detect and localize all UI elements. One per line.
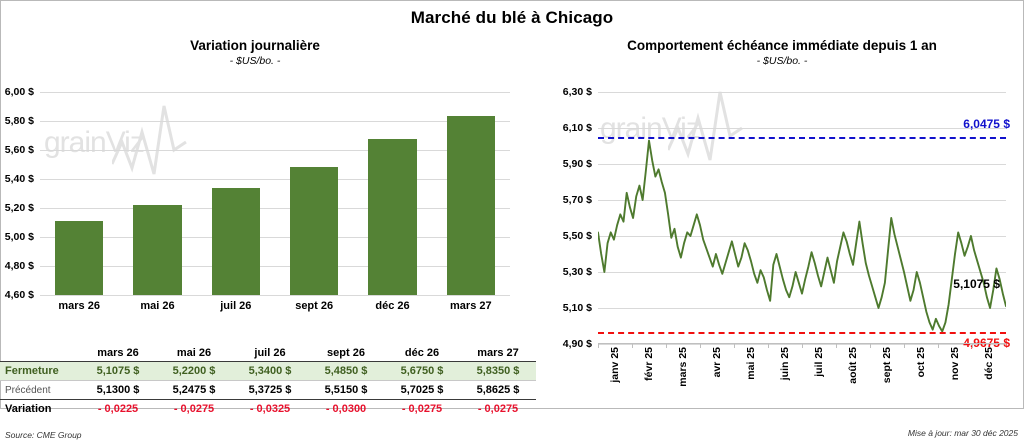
x-axis-tick	[938, 344, 939, 348]
left-chart-panel: Variation journalière - $US/bo. - grainV…	[0, 38, 540, 409]
table-cell: 5,5150 $	[308, 381, 384, 400]
gridline	[40, 266, 510, 267]
x-axis-month-label: août 25	[847, 347, 859, 384]
bar-mai-26[interactable]	[133, 205, 182, 295]
x-axis-month-label: janv 25	[609, 347, 621, 383]
x-axis-month: févr 25	[643, 347, 655, 381]
x-axis-tick	[768, 344, 769, 348]
y-axis-tick-label: 5,60 $	[5, 144, 34, 156]
y-axis-tick-label: 6,00 $	[5, 86, 34, 98]
x-axis-month: nov 25	[949, 347, 961, 380]
x-axis-month: mai 25	[745, 347, 757, 380]
table-column-header: mai 26	[156, 344, 232, 362]
watermark-left: grainViz	[44, 126, 144, 160]
gridline	[40, 179, 510, 180]
table-row-label: Précédent	[0, 381, 80, 400]
x-axis-month: sept 25	[881, 347, 893, 383]
quotes-table: mars 26mai 26juil 26sept 26déc 26mars 27…	[0, 344, 536, 418]
x-axis-tick	[666, 344, 667, 348]
x-axis-month: août 25	[847, 347, 859, 384]
table-cell: 5,8350 $	[460, 362, 536, 381]
x-axis-month-label: juin 25	[779, 347, 791, 380]
x-axis-tick	[870, 344, 871, 348]
left-chart-subtitle: - $US/bo. -	[40, 55, 470, 67]
right-chart-title: Comportement échéance immédiate depuis 1…	[540, 38, 1024, 53]
reference-line-support	[598, 332, 1006, 334]
y-axis-tick-label: 6,30 $	[563, 86, 592, 98]
x-axis-month-label: mars 25	[677, 347, 689, 387]
x-axis-month-label: nov 25	[949, 347, 961, 380]
page-title: Marché du blé à Chicago	[0, 8, 1024, 28]
table-column-header: déc 26	[384, 344, 460, 362]
y-axis-tick-label: 4,60 $	[5, 289, 34, 301]
reference-label-résistance: 6,0475 $	[963, 117, 1010, 131]
last-price-label: 5,1075 $	[953, 277, 1000, 291]
table-cell: 5,3725 $	[232, 381, 308, 400]
y-axis-tick-label: 5,00 $	[5, 231, 34, 243]
x-axis-category-label: sept 26	[295, 300, 333, 312]
bar-déc-26[interactable]	[368, 139, 417, 295]
left-chart-title: Variation journalière	[40, 38, 470, 53]
x-axis-tick	[904, 344, 905, 348]
x-axis-month-label: avr 25	[711, 347, 723, 377]
table-row-label: Fermeture	[0, 362, 80, 381]
y-axis-tick-label: 5,90 $	[563, 158, 592, 170]
x-axis-tick	[972, 344, 973, 348]
table-column-header: juil 26	[232, 344, 308, 362]
y-axis-tick-label: 5,70 $	[563, 194, 592, 206]
x-axis-category-label: mars 27	[450, 300, 492, 312]
updated-label: Mise à jour: mar 30 déc 2025	[908, 428, 1018, 438]
bar-chart-plot-area: grainViz 4,60 $4,80 $5,00 $5,20 $5,40 $5…	[40, 92, 510, 295]
x-axis-category-label: mai 26	[140, 300, 174, 312]
table-cell: 5,2200 $	[156, 362, 232, 381]
x-axis-tick	[700, 344, 701, 348]
gridline	[40, 92, 510, 93]
source-label: Source: CME Group	[5, 430, 82, 440]
bar-juil-26[interactable]	[212, 188, 261, 295]
x-axis-category-label: juil 26	[220, 300, 251, 312]
y-axis-tick-label: 5,50 $	[563, 230, 592, 242]
x-axis-month-label: mai 25	[745, 347, 757, 380]
gridline	[40, 150, 510, 151]
bar-mars-27[interactable]	[447, 116, 496, 295]
x-axis-month: oct 25	[915, 347, 927, 377]
x-axis-month-label: juil 25	[813, 347, 825, 377]
right-chart-panel: Comportement échéance immédiate depuis 1…	[540, 38, 1024, 409]
price-line-series	[598, 92, 1006, 344]
y-axis-tick-label: 5,20 $	[5, 202, 34, 214]
gridline	[40, 208, 510, 209]
table-cell: 5,1075 $	[80, 362, 156, 381]
y-axis-tick-label: 5,80 $	[5, 115, 34, 127]
table-column-header: mars 27	[460, 344, 536, 362]
reference-line-résistance	[598, 137, 1006, 139]
x-axis-month-label: déc 25	[983, 347, 995, 380]
table-cell: 5,6750 $	[384, 362, 460, 381]
table-corner-cell	[0, 344, 80, 362]
gridline	[40, 121, 510, 122]
x-axis-category-label: déc 26	[375, 300, 409, 312]
x-axis-month: juin 25	[779, 347, 791, 380]
y-axis-tick-label: 5,30 $	[563, 266, 592, 278]
x-axis-tick	[734, 344, 735, 348]
y-axis-tick-label: 6,10 $	[563, 122, 592, 134]
table-column-header: mars 26	[80, 344, 156, 362]
x-axis-month: juil 25	[813, 347, 825, 377]
x-axis-month-label: sept 25	[881, 347, 893, 383]
table-row: Fermeture5,1075 $5,2200 $5,3400 $5,4850 …	[0, 362, 536, 381]
table-cell: 5,1300 $	[80, 381, 156, 400]
bar-sept-26[interactable]	[290, 167, 339, 295]
x-axis-tick	[632, 344, 633, 348]
table-cell: 5,8625 $	[460, 381, 536, 400]
x-axis-month: déc 25	[983, 347, 995, 380]
y-axis-tick-label: 4,80 $	[5, 260, 34, 272]
table-cell: 5,3400 $	[232, 362, 308, 381]
x-axis-month: janv 25	[609, 347, 621, 383]
y-axis-tick-label: 5,40 $	[5, 173, 34, 185]
gridline	[40, 295, 510, 296]
table-row: Précédent5,1300 $5,2475 $5,3725 $5,5150 …	[0, 381, 536, 400]
line-chart-plot-area: grainViz 4,90 $5,10 $5,30 $5,50 $5,70 $5…	[598, 92, 1006, 344]
table-cell: 5,7025 $	[384, 381, 460, 400]
x-axis-month-label: févr 25	[643, 347, 655, 381]
x-axis-tick	[836, 344, 837, 348]
x-axis-month-label: oct 25	[915, 347, 927, 377]
y-axis-tick-label: 4,90 $	[563, 338, 592, 350]
x-axis-tick	[598, 344, 599, 348]
table-cell: 5,2475 $	[156, 381, 232, 400]
x-axis-category-label: mars 26	[58, 300, 100, 312]
right-chart-subtitle: - $US/bo. -	[540, 55, 1024, 67]
table-header-row: mars 26mai 26juil 26sept 26déc 26mars 27	[0, 344, 536, 362]
watermark-squiggle-left	[112, 102, 232, 178]
table-cell: 5,4850 $	[308, 362, 384, 381]
table-column-header: sept 26	[308, 344, 384, 362]
x-axis-month: avr 25	[711, 347, 723, 377]
y-axis-tick-label: 5,10 $	[563, 302, 592, 314]
x-axis-tick	[802, 344, 803, 348]
bar-mars-26[interactable]	[55, 221, 104, 295]
x-axis-month: mars 25	[677, 347, 689, 387]
gridline	[40, 237, 510, 238]
